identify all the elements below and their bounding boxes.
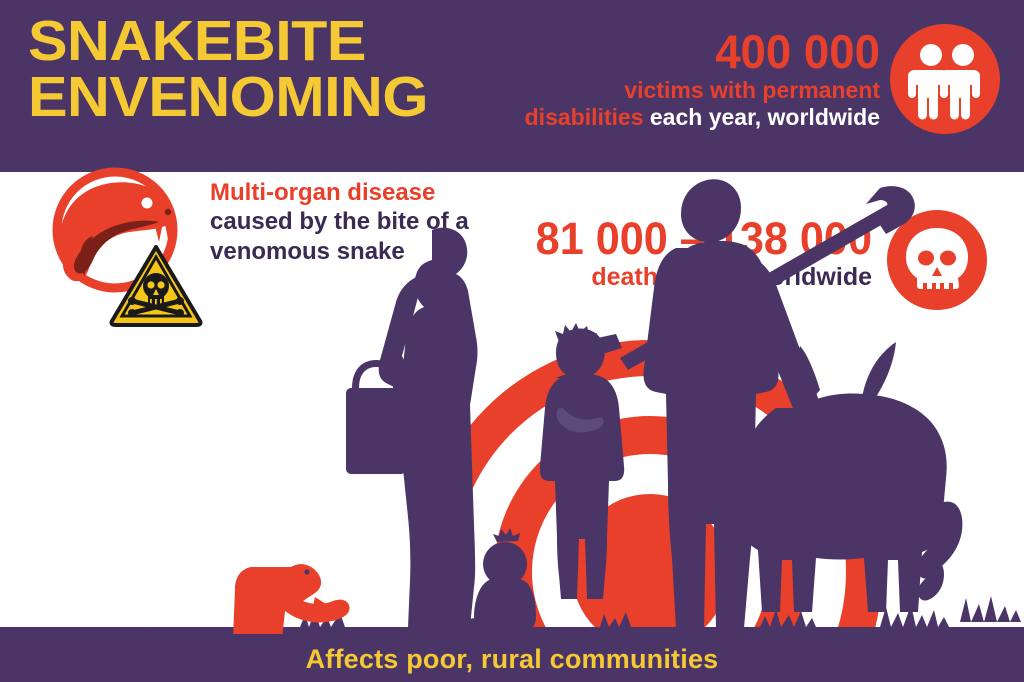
infographic-poster: SNAKEBITE ENVENOMING 400 000 victims wit… <box>0 0 1024 682</box>
page-title: SNAKEBITE ENVENOMING <box>28 14 569 126</box>
stat-value-disabilities: 400 000 <box>511 28 880 75</box>
stat-label-white-disabilities: each year, worldwide <box>644 104 881 130</box>
stat-permanent-disabilities: 400 000 victims with permanent disabilit… <box>500 28 880 130</box>
stat-label-disabilities: victims with permanent disabilities each… <box>500 77 880 130</box>
two-people-icon <box>890 24 1000 134</box>
footer-caption: Affects poor, rural communities <box>0 644 1024 675</box>
